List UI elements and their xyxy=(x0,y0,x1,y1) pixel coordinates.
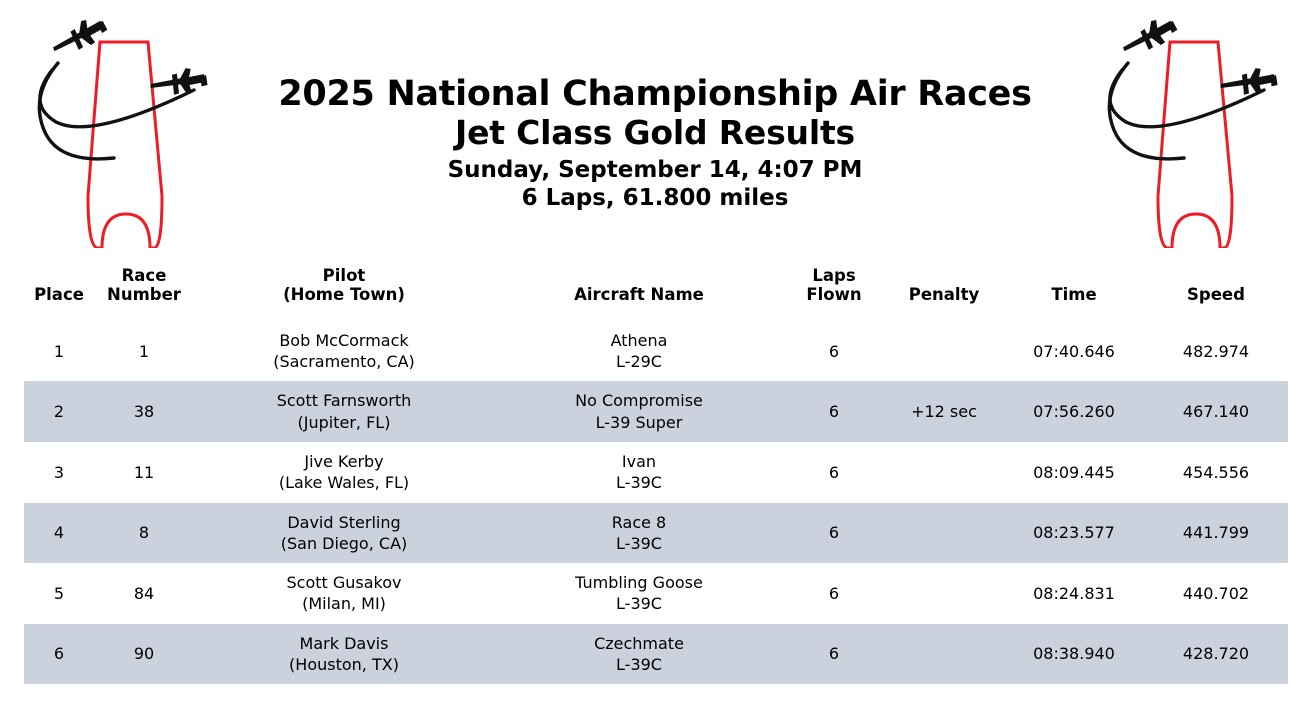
pilot-name: Bob McCormack xyxy=(194,330,494,351)
table-row: 584Scott Gusakov(Milan, MI)Tumbling Goos… xyxy=(24,563,1288,624)
cell-aircraft: AthenaL-29C xyxy=(494,321,784,382)
column-header-place-label: Place xyxy=(24,285,94,304)
pilot-name: Mark Davis xyxy=(194,633,494,654)
cell-aircraft: CzechmateL-39C xyxy=(494,624,784,685)
cell-penalty xyxy=(884,563,1004,624)
column-header-aircraft-label: Aircraft Name xyxy=(494,285,784,304)
column-header-penalty: Penalty xyxy=(884,266,1004,321)
cell-time: 08:38.940 xyxy=(1004,624,1144,685)
cell-race-number: 90 xyxy=(94,624,194,685)
cell-aircraft: Tumbling GooseL-39C xyxy=(494,563,784,624)
cell-speed: 428.720 xyxy=(1144,624,1288,685)
pilot-name: David Sterling xyxy=(194,512,494,533)
column-header-race-number: Race Number xyxy=(94,266,194,321)
flight-path-curve-2 xyxy=(40,70,194,127)
results-table: Place Race Number Pilot (Home Town) Airc… xyxy=(24,266,1288,684)
flight-path-curve xyxy=(39,63,114,159)
column-header-race-top: Race xyxy=(94,266,194,285)
event-title: 2025 National Championship Air Races xyxy=(225,76,1085,113)
flight-path-curve-2 xyxy=(1110,70,1264,127)
column-header-laps: Laps Flown xyxy=(784,266,884,321)
table-row: 11Bob McCormack(Sacramento, CA)AthenaL-2… xyxy=(24,321,1288,382)
cell-race-number: 38 xyxy=(94,381,194,442)
results-table-container: Place Race Number Pilot (Home Town) Airc… xyxy=(24,266,1288,684)
pylon-logo-graphic xyxy=(1092,18,1292,248)
table-row: 311Jive Kerby(Lake Wales, FL)IvanL-39C60… xyxy=(24,442,1288,503)
cell-pilot: Bob McCormack(Sacramento, CA) xyxy=(194,321,494,382)
cell-race-number: 1 xyxy=(94,321,194,382)
cell-aircraft: IvanL-39C xyxy=(494,442,784,503)
cell-pilot: Jive Kerby(Lake Wales, FL) xyxy=(194,442,494,503)
cell-time: 08:09.445 xyxy=(1004,442,1144,503)
cell-place: 3 xyxy=(24,442,94,503)
cell-time: 07:40.646 xyxy=(1004,321,1144,382)
cell-place: 5 xyxy=(24,563,94,624)
column-header-speed: Speed xyxy=(1144,266,1288,321)
cell-pilot: Scott Farnsworth(Jupiter, FL) xyxy=(194,381,494,442)
column-header-laps-label: Flown xyxy=(784,285,884,304)
aircraft-type: L-39C xyxy=(494,533,784,554)
cell-pilot: Mark Davis(Houston, TX) xyxy=(194,624,494,685)
column-header-penalty-label: Penalty xyxy=(884,285,1004,304)
aircraft-name: Race 8 xyxy=(494,512,784,533)
pilot-home-town: (Sacramento, CA) xyxy=(194,351,494,372)
aircraft-silhouette-right xyxy=(1220,67,1278,96)
aircraft-name: Tumbling Goose xyxy=(494,572,784,593)
cell-race-number: 11 xyxy=(94,442,194,503)
cell-aircraft: No CompromiseL-39 Super xyxy=(494,381,784,442)
event-title-block: 2025 National Championship Air Races Jet… xyxy=(225,76,1085,211)
cell-laps-flown: 6 xyxy=(784,563,884,624)
event-distance: 6 Laps, 61.800 miles xyxy=(225,186,1085,210)
aircraft-silhouette-upper xyxy=(1118,18,1181,59)
cell-penalty xyxy=(884,503,1004,564)
column-header-place: Place xyxy=(24,266,94,321)
cell-pilot: David Sterling(San Diego, CA) xyxy=(194,503,494,564)
cell-place: 6 xyxy=(24,624,94,685)
pilot-name: Jive Kerby xyxy=(194,451,494,472)
cell-place: 1 xyxy=(24,321,94,382)
cell-race-number: 84 xyxy=(94,563,194,624)
aircraft-name: Athena xyxy=(494,330,784,351)
pilot-name: Scott Farnsworth xyxy=(194,390,494,411)
event-datetime: Sunday, September 14, 4:07 PM xyxy=(225,158,1085,182)
cell-race-number: 8 xyxy=(94,503,194,564)
table-row: 690Mark Davis(Houston, TX)CzechmateL-39C… xyxy=(24,624,1288,685)
aircraft-silhouette-right xyxy=(150,67,208,96)
event-subtitle: Jet Class Gold Results xyxy=(225,116,1085,151)
flight-path-curve xyxy=(1109,63,1184,159)
air-race-pylon-logo-right xyxy=(1092,18,1292,248)
cell-speed: 467.140 xyxy=(1144,381,1288,442)
aircraft-type: L-29C xyxy=(494,351,784,372)
pilot-home-town: (Milan, MI) xyxy=(194,593,494,614)
results-table-body: 11Bob McCormack(Sacramento, CA)AthenaL-2… xyxy=(24,321,1288,684)
pilot-home-town: (Jupiter, FL) xyxy=(194,412,494,433)
column-header-aircraft: Aircraft Name xyxy=(494,266,784,321)
cell-penalty xyxy=(884,624,1004,685)
pilot-home-town: (Houston, TX) xyxy=(194,654,494,675)
column-header-pilot-label: (Home Town) xyxy=(194,285,494,304)
cell-laps-flown: 6 xyxy=(784,624,884,685)
results-page: 2025 National Championship Air Races Jet… xyxy=(0,0,1310,701)
cell-penalty xyxy=(884,321,1004,382)
column-header-speed-label: Speed xyxy=(1144,285,1288,304)
cell-speed: 482.974 xyxy=(1144,321,1288,382)
aircraft-name: Czechmate xyxy=(494,633,784,654)
pilot-name: Scott Gusakov xyxy=(194,572,494,593)
cell-pilot: Scott Gusakov(Milan, MI) xyxy=(194,563,494,624)
cell-speed: 454.556 xyxy=(1144,442,1288,503)
table-row: 238Scott Farnsworth(Jupiter, FL)No Compr… xyxy=(24,381,1288,442)
cell-place: 4 xyxy=(24,503,94,564)
aircraft-type: L-39C xyxy=(494,472,784,493)
aircraft-type: L-39 Super xyxy=(494,412,784,433)
air-race-pylon-logo-left xyxy=(22,18,222,248)
cell-time: 08:23.577 xyxy=(1004,503,1144,564)
cell-laps-flown: 6 xyxy=(784,321,884,382)
cell-aircraft: Race 8L-39C xyxy=(494,503,784,564)
column-header-pilot: Pilot (Home Town) xyxy=(194,266,494,321)
aircraft-name: No Compromise xyxy=(494,390,784,411)
cell-time: 08:24.831 xyxy=(1004,563,1144,624)
pilot-home-town: (Lake Wales, FL) xyxy=(194,472,494,493)
column-header-laps-top: Laps xyxy=(784,266,884,285)
cell-speed: 441.799 xyxy=(1144,503,1288,564)
column-header-time-label: Time xyxy=(1004,285,1144,304)
aircraft-name: Ivan xyxy=(494,451,784,472)
cell-penalty: +12 sec xyxy=(884,381,1004,442)
column-header-race-label: Number xyxy=(94,285,194,304)
pilot-home-town: (San Diego, CA) xyxy=(194,533,494,554)
aircraft-silhouette-upper xyxy=(48,18,111,59)
table-header-row: Place Race Number Pilot (Home Town) Airc… xyxy=(24,266,1288,321)
table-row: 48David Sterling(San Diego, CA)Race 8L-3… xyxy=(24,503,1288,564)
cell-laps-flown: 6 xyxy=(784,503,884,564)
aircraft-type: L-39C xyxy=(494,654,784,675)
column-header-pilot-top: Pilot xyxy=(194,266,494,285)
cell-speed: 440.702 xyxy=(1144,563,1288,624)
pylon-logo-graphic xyxy=(22,18,222,248)
cell-place: 2 xyxy=(24,381,94,442)
aircraft-type: L-39C xyxy=(494,593,784,614)
cell-penalty xyxy=(884,442,1004,503)
cell-laps-flown: 6 xyxy=(784,381,884,442)
cell-time: 07:56.260 xyxy=(1004,381,1144,442)
cell-laps-flown: 6 xyxy=(784,442,884,503)
column-header-time: Time xyxy=(1004,266,1144,321)
